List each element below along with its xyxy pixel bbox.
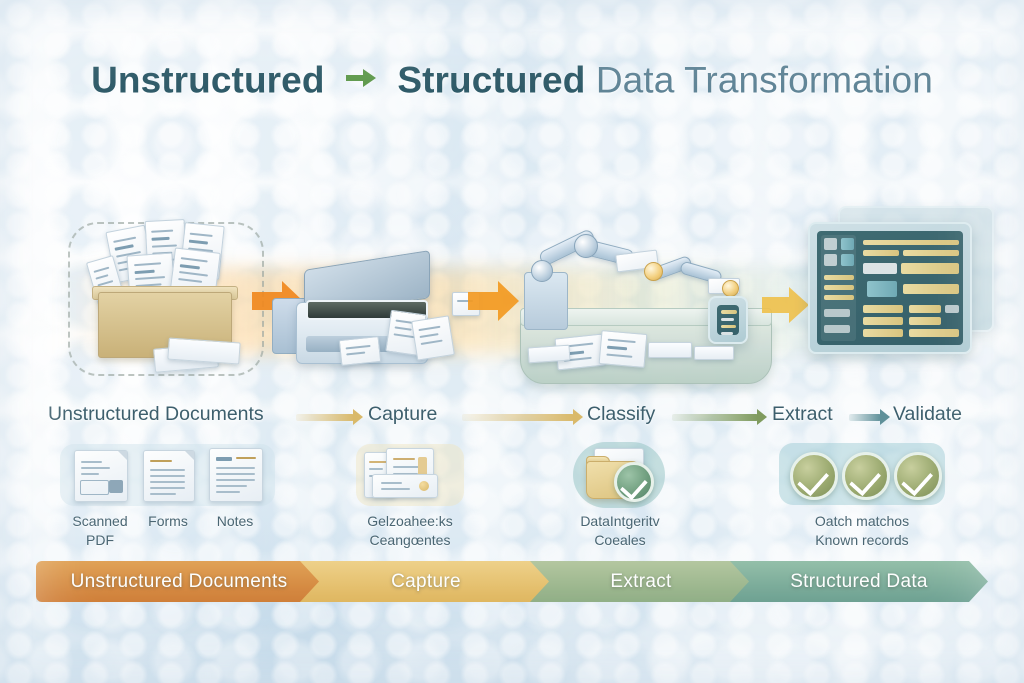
stage-arrow-2 xyxy=(462,414,574,421)
stage-label-extract: Extract xyxy=(772,403,833,426)
title-word-structured: Structured xyxy=(397,59,585,100)
stage-label-capture: Capture xyxy=(368,403,437,426)
stage-label-validate: Validate xyxy=(893,403,962,426)
ribbon-step-unstructured-documents[interactable]: Unstructured Documents xyxy=(36,561,322,602)
infographic-poster: Unstructured Structured Data Transformat… xyxy=(0,0,1024,683)
stage-arrow-4 xyxy=(849,414,881,421)
ribbon-step-structured-data[interactable]: Structured Data xyxy=(730,561,988,602)
ribbon-step-capture[interactable]: Capture xyxy=(300,561,552,602)
classify-caption: DataIntgeritv Coeales xyxy=(558,512,682,550)
capture-cards-caption: Gelzoahee:ks Ceangœntes xyxy=(350,512,470,550)
scene-arrow-2 xyxy=(468,280,520,327)
stage-arrow-3 xyxy=(672,414,758,421)
scene-arrow-3 xyxy=(762,286,810,329)
page-title: Unstructured Structured Data Transformat… xyxy=(0,56,1024,101)
arrow-right-icon xyxy=(344,56,378,98)
title-word-data-transformation: Data Transformation xyxy=(596,59,933,100)
title-word-unstructured: Unstructured xyxy=(91,59,325,100)
process-illustration xyxy=(0,150,1024,398)
process-ribbon: Unstructured Documents Capture Extract S… xyxy=(0,561,1024,602)
notes-caption: Notes xyxy=(195,512,275,531)
ribbon-step-extract[interactable]: Extract xyxy=(530,561,752,602)
stage-label-row: Unstructured Documents Capture Classify … xyxy=(0,403,1024,433)
validate-caption: Oatch matchos Known records xyxy=(772,512,952,550)
stage-label-unstructured-documents: Unstructured Documents xyxy=(48,403,264,426)
stage-arrow-1 xyxy=(296,414,354,421)
stage-label-classify: Classify xyxy=(587,403,655,426)
